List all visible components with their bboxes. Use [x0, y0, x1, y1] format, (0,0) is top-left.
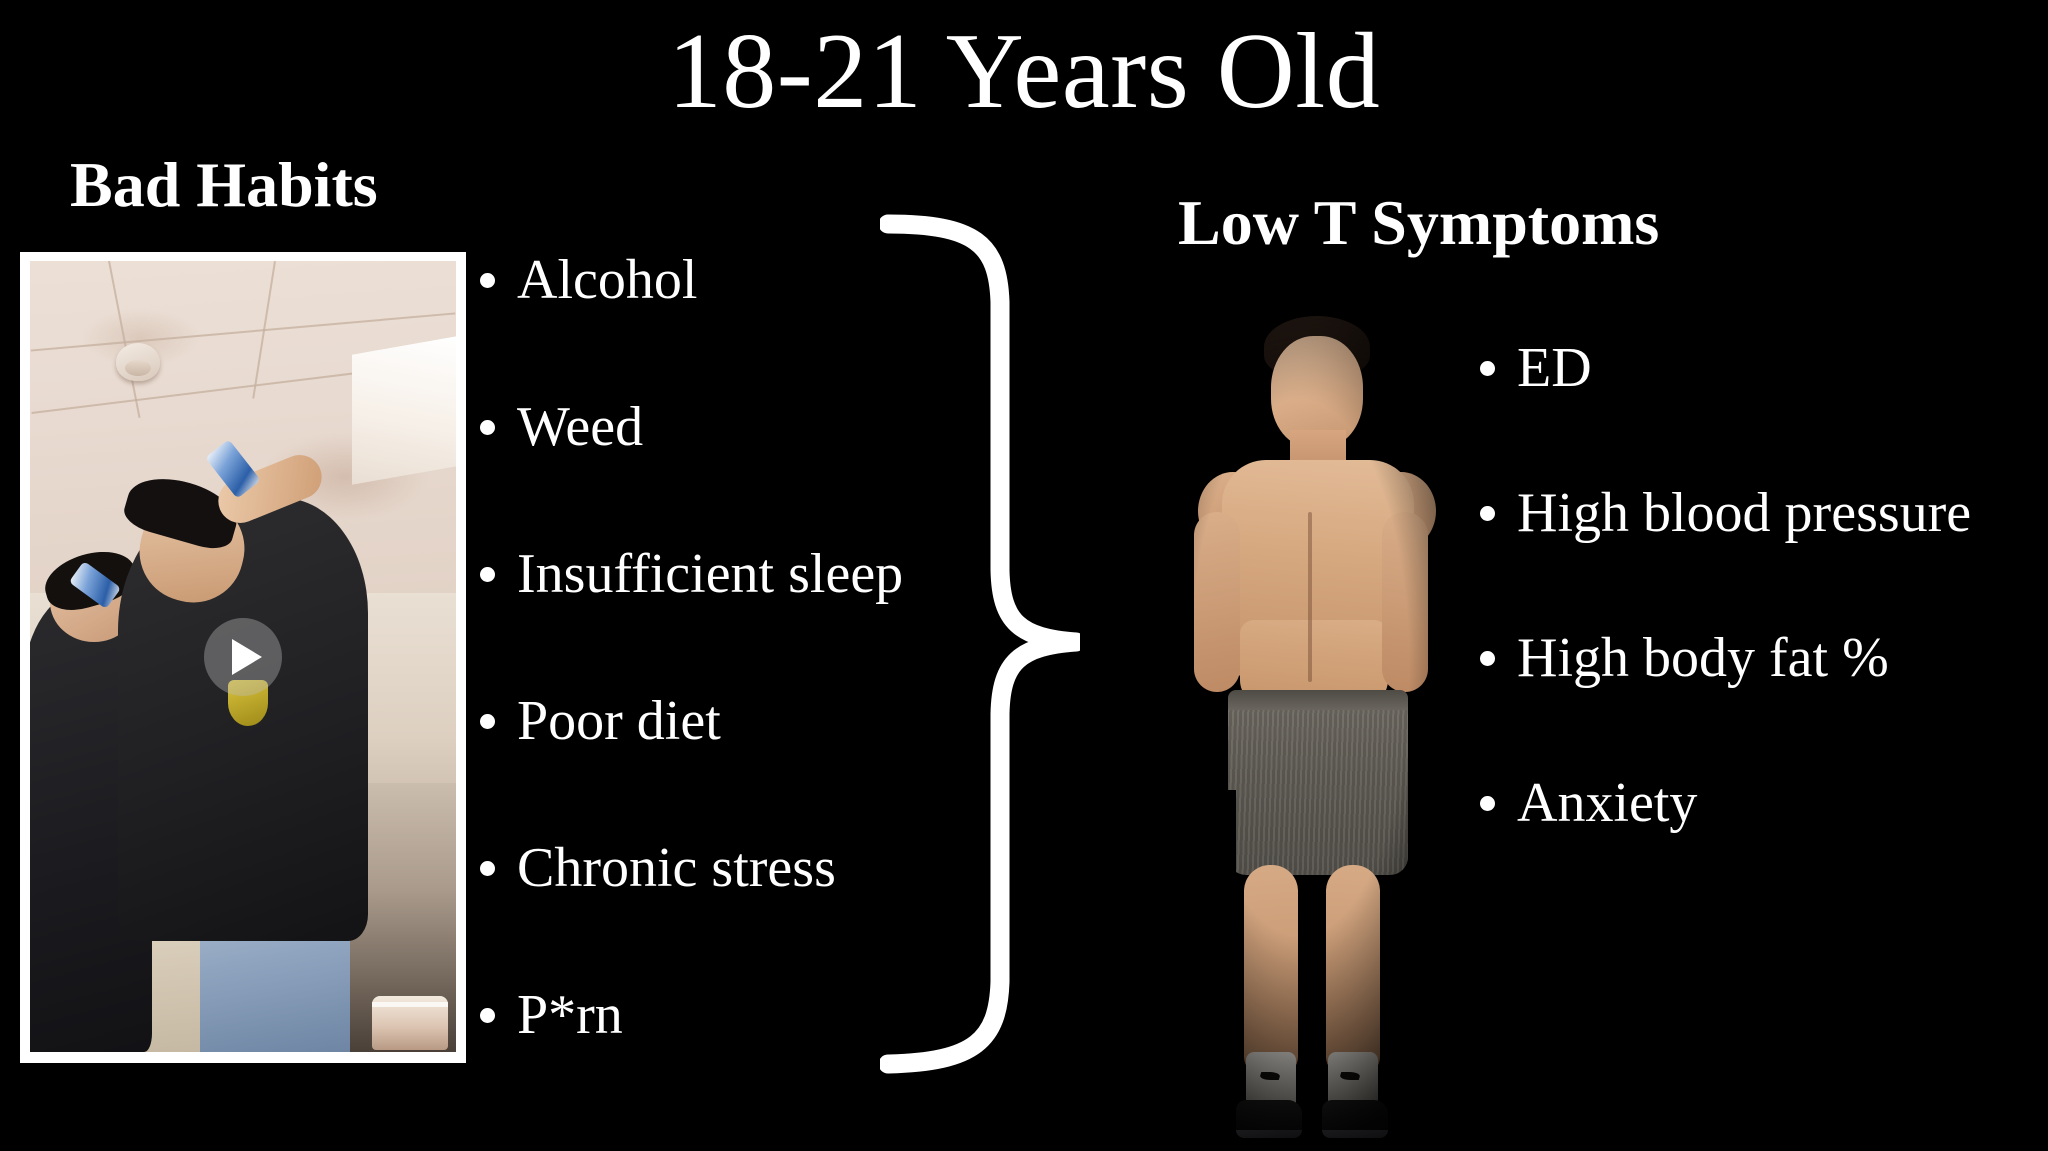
list-item: Chronic stress	[480, 840, 860, 987]
list-item: P*rn	[480, 987, 860, 1134]
figure-arm-left	[1194, 512, 1240, 692]
figure-chest-line	[1308, 512, 1312, 682]
list-item-label: Weed	[517, 399, 643, 455]
ceiling-grid-line	[31, 312, 456, 351]
figure-arm-right	[1382, 512, 1428, 692]
list-item: ED	[1480, 340, 2040, 485]
paper-cup-stack	[372, 996, 448, 1050]
list-item-label: Insufficient sleep	[517, 546, 903, 602]
ceiling-light	[352, 335, 456, 484]
list-item-label: Alcohol	[517, 252, 697, 308]
low-t-symptoms-list: ED High blood pressure High body fat % A…	[1480, 340, 2040, 920]
swoosh-icon	[1339, 1072, 1362, 1080]
video-frame	[30, 261, 456, 1052]
list-item: Poor diet	[480, 693, 860, 840]
list-item: Weed	[480, 399, 860, 546]
right-pointing-brace-icon	[880, 210, 1080, 1080]
low-t-symptoms-heading: Low T Symptoms	[1178, 188, 1659, 258]
figure-shorts-split	[1226, 790, 1236, 876]
figure-shoe-right	[1322, 1100, 1388, 1138]
bullet-dot-icon	[480, 1008, 495, 1023]
figure-leg-left	[1244, 865, 1298, 1075]
list-item-label: High body fat %	[1517, 630, 1889, 686]
bad-habits-heading: Bad Habits	[70, 150, 378, 220]
bullet-dot-icon	[480, 273, 495, 288]
play-icon[interactable]	[204, 618, 282, 696]
list-item: High blood pressure	[1480, 485, 2040, 630]
bullet-dot-icon	[480, 567, 495, 582]
bullet-dot-icon	[1480, 361, 1495, 376]
bullet-dot-icon	[480, 861, 495, 876]
list-item-label: Poor diet	[517, 693, 721, 749]
swoosh-icon	[1259, 1072, 1282, 1080]
low-t-person-figure	[1140, 290, 1460, 1130]
list-item: Insufficient sleep	[480, 546, 860, 693]
list-item: Alcohol	[480, 252, 860, 399]
bullet-dot-icon	[480, 714, 495, 729]
figure-shorts	[1228, 690, 1408, 875]
list-item-label: Chronic stress	[517, 840, 836, 896]
smoke-detector	[116, 343, 160, 381]
list-item-label: P*rn	[517, 987, 623, 1043]
play-triangle	[232, 639, 262, 675]
slide-canvas: 18-21 Years Old Bad Habits	[0, 0, 2048, 1151]
bullet-dot-icon	[1480, 796, 1495, 811]
page-title: 18-21 Years Old	[0, 12, 2048, 133]
figure-leg-right	[1326, 865, 1380, 1075]
bullet-dot-icon	[480, 420, 495, 435]
list-item: High body fat %	[1480, 630, 2040, 775]
list-item-label: High blood pressure	[1517, 485, 1971, 541]
list-item-label: ED	[1517, 340, 1592, 396]
bad-habits-video-thumbnail[interactable]	[20, 252, 466, 1063]
bad-habits-list: Alcohol Weed Insufficient sleep Poor die…	[480, 252, 860, 1134]
list-item-label: Anxiety	[1517, 775, 1697, 831]
list-item: Anxiety	[1480, 775, 2040, 920]
bullet-dot-icon	[1480, 651, 1495, 666]
bullet-dot-icon	[1480, 506, 1495, 521]
figure-shoe-left	[1236, 1100, 1302, 1138]
